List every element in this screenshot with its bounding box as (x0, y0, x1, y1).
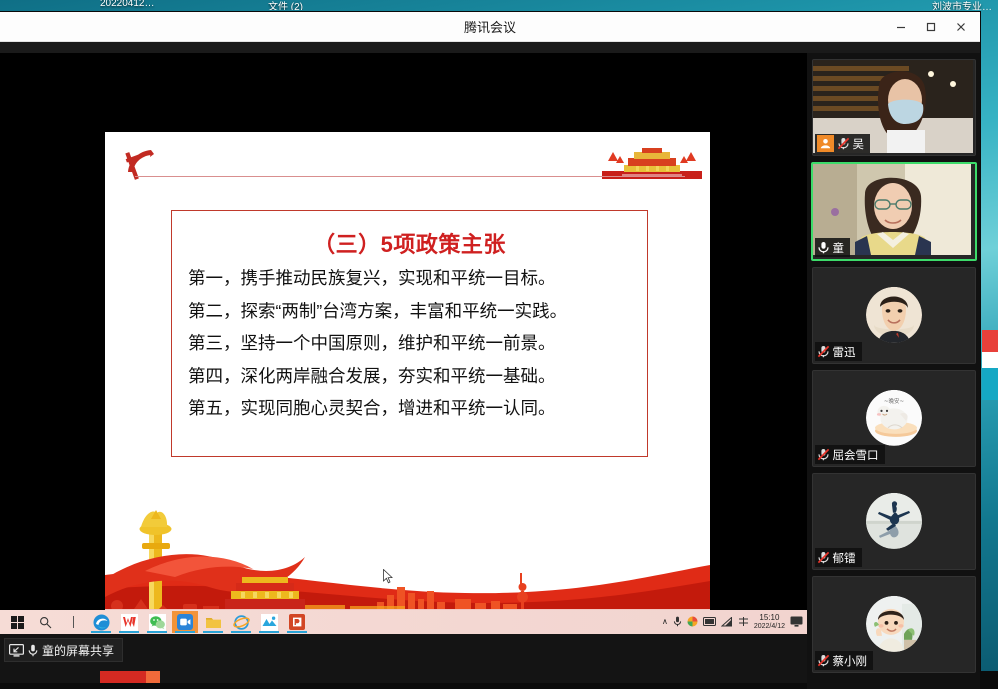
start-button[interactable] (4, 611, 30, 633)
window-titlebar[interactable]: 腾讯会议 (0, 12, 980, 42)
svg-text:~晚安~: ~晚安~ (883, 396, 904, 404)
avatar: ~晚安~ (866, 389, 922, 445)
ie-icon[interactable] (228, 611, 254, 633)
shared-screen-stage[interactable]: （三）5项政策主张 第一，携手推动民族复兴，实现和平统一目标。 第二，探索“两制… (0, 53, 807, 683)
participant-tile-wu[interactable]: 吴 (812, 59, 976, 156)
screen-share-bar: 童的屏幕共享 (0, 634, 807, 683)
maximize-button[interactable] (916, 12, 946, 41)
participant-tile-tong[interactable]: 童 (811, 162, 977, 261)
tray-mic-icon[interactable] (673, 616, 682, 627)
tray-chevron-icon[interactable]: ∧ (662, 617, 668, 626)
shared-app-thumbnail (100, 671, 160, 683)
wps-icon[interactable] (116, 611, 142, 633)
slide-line-3: 第三，坚持一个中国原则，维护和平统一前景。 (188, 330, 647, 357)
minimize-button[interactable] (886, 12, 916, 41)
participant-name: 郁镭 (833, 550, 856, 566)
taskbar-clock[interactable]: 15:10 2022/4/12 (754, 614, 785, 630)
mic-muted-icon (817, 345, 830, 358)
host-badge-icon (817, 135, 834, 152)
desktop-icon-label-3[interactable]: 刘波市专业… (932, 0, 992, 10)
participant-name: 童 (833, 240, 845, 256)
tencent-meeting-icon[interactable] (172, 611, 198, 633)
participant-name: 屈会雪口 (833, 447, 879, 463)
slide-footer-decoration (105, 507, 710, 612)
tiananmen-graphic (602, 147, 702, 179)
slide-title: （三）5项政策主张 (172, 227, 647, 259)
desktop-icon-label-2[interactable]: 文件 (2) (268, 0, 303, 10)
wechat-icon[interactable] (144, 611, 170, 633)
slide-line-2: 第二，探索“两制”台湾方案，丰富和平统一实践。 (188, 298, 647, 325)
participant-name: 蔡小刚 (833, 653, 868, 669)
mic-muted-icon (817, 654, 830, 667)
tray-ime-icon[interactable] (738, 616, 749, 627)
screen-share-icon (9, 644, 24, 657)
folder-icon[interactable] (200, 611, 226, 633)
powerpoint-slide: （三）5项政策主张 第一，携手推动民族复兴，实现和平统一目标。 第二，探索“两制… (105, 132, 710, 612)
mic-muted-icon (837, 137, 850, 150)
avatar (866, 286, 922, 342)
avatar (866, 595, 922, 651)
nametag: 蔡小刚 (815, 651, 874, 670)
clock-time: 15:10 (754, 614, 785, 622)
hammer-sickle-icon (121, 146, 161, 184)
share-mic-icon (28, 644, 38, 657)
system-tray[interactable]: ∧ 15:10 2022/4/12 (662, 614, 807, 630)
shared-desktop-content: （三）5项政策主张 第一，携手推动民族复兴，实现和平统一目标。 第二，探索“两制… (0, 132, 807, 634)
mic-active-icon (817, 241, 830, 254)
nametag: 吴 (815, 134, 871, 153)
edge-icon[interactable] (88, 611, 114, 633)
slide-content-box: （三）5项政策主张 第一，携手推动民族复兴，实现和平统一目标。 第二，探索“两制… (171, 210, 648, 457)
powerpoint-icon[interactable] (284, 611, 310, 633)
tray-display-icon[interactable] (703, 617, 716, 627)
slide-line-5: 第五，实现同胞心灵契合，增进和平统一认同。 (188, 395, 647, 422)
windows-taskbar[interactable]: ∧ 15:10 2022/4/12 (0, 610, 807, 634)
participant-tile-leixun[interactable]: 雷迅 (812, 267, 976, 364)
mic-muted-icon (817, 448, 830, 461)
participant-tile-caixiaogang[interactable]: 蔡小刚 (812, 576, 976, 673)
desktop-icon-label-1[interactable]: 20220412… (100, 0, 155, 10)
background-window-sliver (982, 330, 998, 400)
header-divider (135, 176, 685, 177)
tray-security-icon[interactable] (687, 616, 698, 627)
participant-name: 雷迅 (833, 344, 856, 360)
tencent-meeting-window: 腾讯会议 (0, 12, 980, 671)
participant-tile-yulei[interactable]: 郁镭 (812, 473, 976, 570)
participant-name: 吴 (853, 136, 865, 152)
tray-network-icon[interactable] (721, 617, 733, 627)
slide-line-1: 第一，携手推动民族复兴，实现和平统一目标。 (188, 265, 647, 292)
close-button[interactable] (946, 12, 976, 41)
window-title: 腾讯会议 (0, 17, 980, 36)
nametag: 郁镭 (815, 548, 862, 567)
participant-tile-quhuixue[interactable]: ~晚安~ 屈会雪口 (812, 370, 976, 467)
avatar (866, 492, 922, 548)
mic-muted-icon (817, 551, 830, 564)
nametag: 雷迅 (815, 342, 862, 361)
window-controls (886, 12, 976, 41)
search-icon[interactable] (32, 611, 58, 633)
taskview-divider (60, 611, 86, 633)
nametag: 童 (815, 238, 851, 257)
slide-line-4: 第四，深化两岸融合发展，夯实和平统一基础。 (188, 363, 647, 390)
show-desktop-icon[interactable] (790, 616, 803, 627)
screen-share-badge[interactable]: 童的屏幕共享 (4, 638, 123, 662)
nametag: 屈会雪口 (815, 445, 885, 464)
clock-date: 2022/4/12 (754, 623, 785, 630)
mouse-cursor (383, 569, 393, 584)
screen-share-label: 童的屏幕共享 (42, 642, 114, 659)
blue-app-icon[interactable] (256, 611, 282, 633)
participant-rail[interactable]: 吴 (807, 53, 980, 689)
